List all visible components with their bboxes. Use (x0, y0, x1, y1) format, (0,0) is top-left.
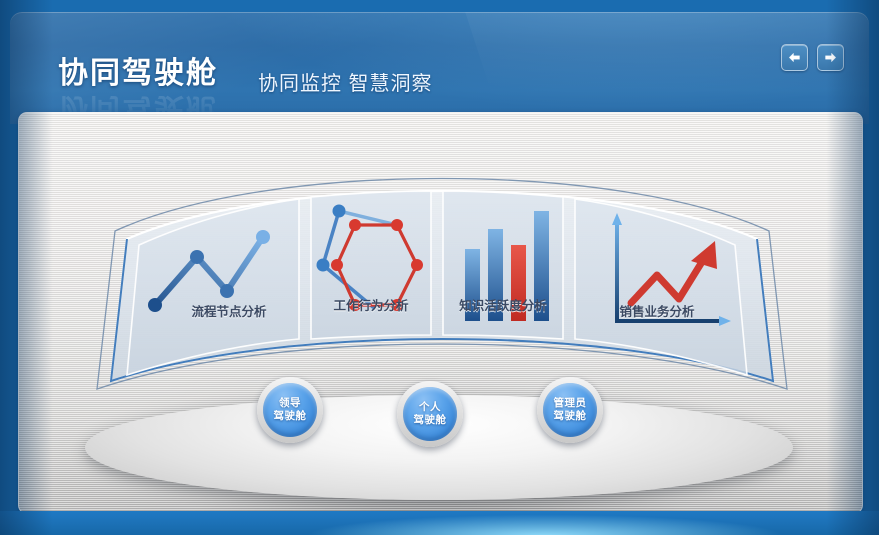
prev-button[interactable] (781, 44, 808, 71)
panel-label-2: 工作行为分析 (311, 295, 431, 314)
dashboard-stage: 协同驾驶舱 协同驾驶舱 协同监控 智慧洞察 (0, 0, 879, 535)
orb-label-line1: 领导 (279, 397, 301, 410)
next-button[interactable] (817, 44, 844, 71)
arrow-left-icon (788, 52, 801, 63)
header-panel: 协同驾驶舱 协同驾驶舱 协同监控 智慧洞察 (10, 12, 869, 124)
orb-label-line1: 管理员 (554, 397, 587, 410)
orb-inner: 管理员 驾驶舱 (543, 383, 597, 437)
panel-label-4: 销售业务分析 (577, 301, 737, 320)
orb-label-line2: 驾驶舱 (554, 410, 587, 423)
page-subtitle: 协同监控 智慧洞察 (258, 67, 433, 96)
arrow-right-icon (824, 52, 837, 63)
orb-label-line1: 个人 (419, 401, 441, 414)
bottom-glow-band (0, 511, 879, 535)
page-title: 协同驾驶舱 (58, 48, 218, 92)
panel-label-3: 知识活跃度分析 (439, 295, 567, 314)
orb-button-admin[interactable]: 管理员 驾驶舱 (537, 377, 603, 443)
orb-label-line2: 驾驶舱 (414, 414, 447, 427)
orb-inner: 领导 驾驶舱 (263, 383, 317, 437)
curved-screen: 流程节点分析 工作行为分析 知识活跃度分析 销售业务分析 (87, 153, 797, 403)
orb-button-personal[interactable]: 个人 驾驶舱 (397, 381, 463, 447)
metal-body-panel: 流程节点分析 工作行为分析 知识活跃度分析 销售业务分析 领导 驾驶舱 个人 驾… (18, 112, 863, 514)
nav-button-group (781, 44, 844, 71)
orb-label-line2: 驾驶舱 (274, 410, 307, 423)
orb-inner: 个人 驾驶舱 (403, 387, 457, 441)
panel-label-1: 流程节点分析 (149, 301, 309, 320)
orb-button-leader[interactable]: 领导 驾驶舱 (257, 377, 323, 443)
